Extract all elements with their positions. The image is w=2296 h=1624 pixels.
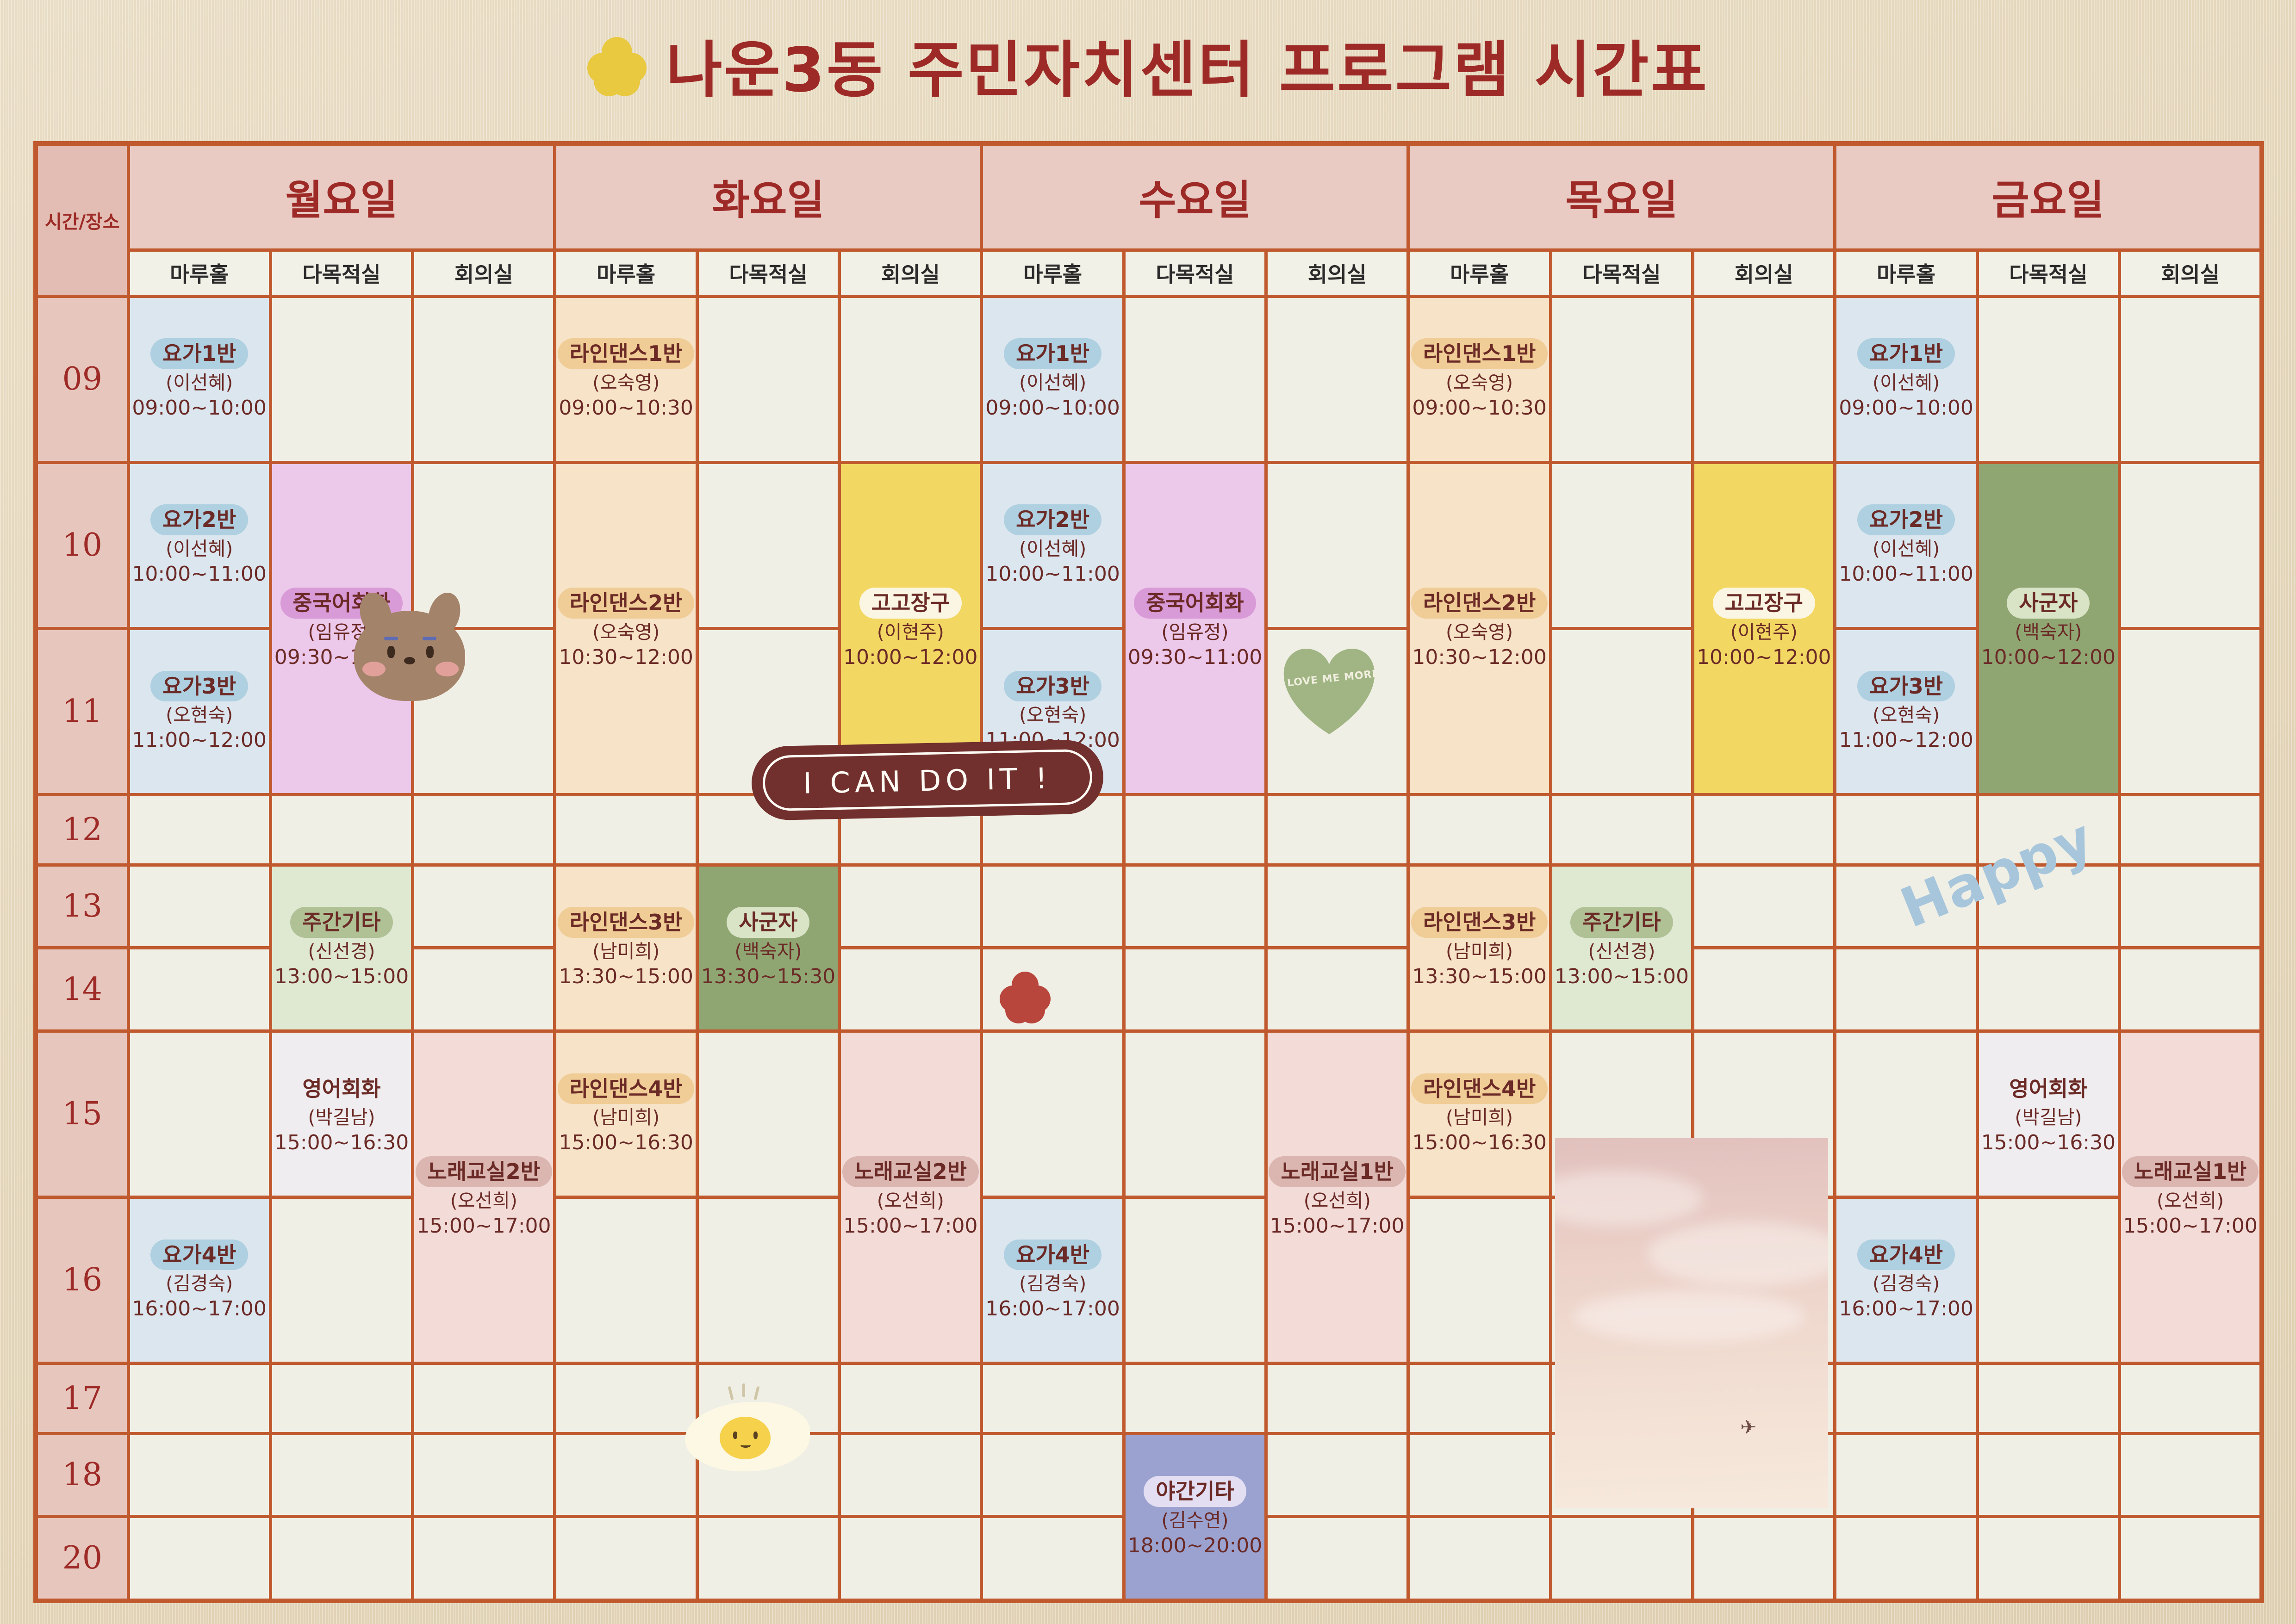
room-header-wed-meet: 회의실 [1266, 250, 1408, 296]
class-time: 15:00~17:00 [417, 1215, 551, 1238]
time-label-17: 17 [36, 1363, 128, 1433]
class-teacher: (이현주) [877, 621, 944, 643]
cell-fri-meet-09[interactable] [2120, 296, 2262, 462]
class-teacher: (오숙영) [1446, 621, 1513, 643]
schedule-table: 시간/장소 월요일 화요일 수요일 목요일 금요일 마루홀 다목적실 회의실 마… [33, 141, 2264, 1603]
class-block-yoga4-mon: 요가4반 (김경숙) 16:00~17:00 [130, 1199, 269, 1362]
cell-wed-meet-13[interactable] [1266, 865, 1408, 948]
cell-tue-meet-12[interactable] [840, 794, 982, 865]
class-time: 11:00~12:00 [985, 729, 1120, 752]
room-header-mon-multi: 다목적실 [270, 250, 412, 296]
cell-tue-meet-14[interactable] [840, 948, 982, 1031]
cell-fri-maru-12[interactable] [1835, 794, 1977, 865]
cell-mon-multi-17[interactable] [270, 1363, 412, 1433]
cell-mon-meet-17[interactable] [413, 1363, 555, 1433]
class-block-yoga2-fri: 요가2반 (이선혜) 10:00~11:00 [1836, 464, 1975, 627]
class-teacher: (신선경) [1588, 941, 1655, 962]
day-header-row: 시간/장소 월요일 화요일 수요일 목요일 금요일 [36, 143, 2262, 250]
cell-mon-maru-13[interactable] [128, 865, 270, 948]
cell-thu-meet-17[interactable] [1693, 1363, 1835, 1433]
class-time: 18:00~20:00 [1128, 1534, 1262, 1558]
cell-mon-meet-11[interactable] [413, 628, 555, 794]
class-time: 13:30~15:30 [701, 965, 835, 989]
class-teacher: (오선희) [1304, 1190, 1371, 1212]
class-time: 11:00~12:00 [132, 729, 266, 752]
cell-wed-maru-13[interactable] [982, 865, 1124, 948]
cell-thu-multi-16[interactable] [1550, 1197, 1692, 1363]
class-teacher: (오선희) [450, 1190, 517, 1212]
cell-mon-maru-09[interactable]: 요가1반 (이선혜) 09:00~10:00 [128, 296, 270, 462]
time-row-17: 17 [36, 1363, 2262, 1433]
cell-fri-meet-10[interactable] [2120, 462, 2262, 628]
class-time: 13:00~15:00 [274, 965, 409, 989]
class-name: 라인댄스3반 [1411, 907, 1548, 938]
class-block-chinese-wed: 중국어회화 (임유정) 09:30~11:00 [1126, 464, 1264, 793]
cell-wed-meet-15[interactable]: 노래교실1반 (오선희) 15:00~17:00 [1266, 1031, 1408, 1363]
room-header-mon-meet: 회의실 [413, 250, 555, 296]
cell-mon-meet-13[interactable] [413, 865, 555, 948]
cell-mon-multi-15[interactable]: 영어회화 (박길남) 15:00~16:30 [270, 1031, 412, 1197]
day-header-thursday: 목요일 [1408, 143, 1835, 250]
class-time: 16:00~17:00 [132, 1297, 266, 1321]
class-time: 09:00~10:00 [132, 397, 266, 420]
class-block-song2-tue: 노래교실2반 (오선희) 15:00~17:00 [841, 1033, 980, 1362]
cell-fri-maru-14[interactable] [1835, 948, 1977, 1031]
class-block-yoga3-mon: 요가3반 (오현숙) 11:00~12:00 [130, 630, 269, 793]
class-name: 라인댄스1반 [1411, 338, 1548, 369]
class-name: 사군자 [2007, 588, 2090, 619]
cell-tue-multi-13[interactable]: 사군자 (백숙자) 13:30~15:30 [697, 865, 839, 1031]
cell-tue-meet-17[interactable] [840, 1363, 982, 1433]
cell-fri-multi-18[interactable] [1977, 1433, 2119, 1516]
cell-tue-maru-09[interactable]: 라인댄스1반 (오숙영) 09:00~10:30 [555, 296, 697, 462]
cell-wed-multi-16[interactable] [1124, 1197, 1266, 1363]
cell-thu-multi-20[interactable] [1550, 1516, 1692, 1601]
class-teacher: (오숙영) [1446, 372, 1513, 394]
cell-thu-multi-13[interactable]: 주간기타 (신선경) 13:00~15:00 [1550, 865, 1692, 1031]
time-row-09: 09 요가1반 (이선혜) 09:00~10:00 라인댄스1반 (오숙영) 0… [36, 296, 2262, 462]
cell-tue-maru-12[interactable] [555, 794, 697, 865]
cell-tue-meet-10[interactable]: 고고장구 (이현주) 10:00~12:00 [840, 462, 982, 794]
cell-mon-meet-10[interactable] [413, 462, 555, 628]
cell-thu-maru-15[interactable]: 라인댄스4반 (남미희) 15:00~16:30 [1408, 1031, 1550, 1197]
cell-fri-multi-20[interactable] [1977, 1516, 2119, 1601]
cell-tue-maru-10[interactable]: 라인댄스2반 (오숙영) 10:30~12:00 [555, 462, 697, 794]
class-teacher: (김경숙) [1873, 1273, 1940, 1295]
class-time: 10:00~12:00 [843, 646, 977, 669]
class-name: 야간기타 [1144, 1476, 1246, 1507]
class-time: 11:00~12:00 [1839, 729, 1973, 752]
cell-fri-meet-18[interactable] [2120, 1433, 2262, 1516]
cell-fri-meet-11[interactable] [2120, 628, 2262, 794]
cell-mon-multi-13[interactable]: 주간기타 (신선경) 13:00~15:00 [270, 865, 412, 1031]
cell-thu-meet-09[interactable] [1693, 296, 1835, 462]
cell-thu-meet-14[interactable] [1693, 948, 1835, 1031]
cell-fri-meet-13[interactable] [2120, 865, 2262, 948]
class-time: 10:30~12:00 [1412, 646, 1546, 669]
cell-fri-meet-15[interactable]: 노래교실1반 (오선희) 15:00~17:00 [2120, 1031, 2262, 1363]
cell-thu-maru-10[interactable]: 라인댄스2반 (오숙영) 10:30~12:00 [1408, 462, 1550, 794]
class-teacher: (이선혜) [1019, 538, 1086, 560]
cell-wed-meet-09[interactable] [1266, 296, 1408, 462]
class-teacher: (이선혜) [1873, 538, 1940, 560]
class-block-gogo-tue: 고고장구 (이현주) 10:00~12:00 [841, 464, 980, 793]
time-row-16: 16 요가4반 (김경숙) 16:00~17:00 요가4반 (김경숙) 16:… [36, 1197, 2262, 1363]
class-block-line4-thu: 라인댄스4반 (남미희) 15:00~16:30 [1410, 1033, 1549, 1196]
cell-fri-multi-13[interactable] [1977, 865, 2119, 948]
time-label-20: 20 [36, 1516, 128, 1601]
cell-wed-maru-20[interactable] [982, 1516, 1124, 1601]
class-teacher: (오숙영) [592, 372, 660, 394]
cell-thu-meet-16[interactable] [1693, 1197, 1835, 1363]
cell-wed-multi-17[interactable] [1124, 1363, 1266, 1433]
page-title-bar: 나운3동 주민자치센터 프로그램 시간표 [0, 19, 2296, 111]
cell-fri-meet-12[interactable] [2120, 794, 2262, 865]
cell-thu-meet-18[interactable] [1693, 1433, 1835, 1516]
cell-fri-maru-09[interactable]: 요가1반 (이선혜) 09:00~10:00 [1835, 296, 1977, 462]
class-block-sagunja-tue: 사군자 (백숙자) 13:30~15:30 [699, 867, 838, 1029]
cell-wed-multi-09[interactable] [1124, 296, 1266, 462]
time-row-12: 12 [36, 794, 2262, 865]
class-time: 15:00~17:00 [843, 1215, 977, 1238]
class-block-english-mon: 영어회화 (박길남) 15:00~16:30 [272, 1033, 411, 1196]
cell-fri-meet-17[interactable] [2120, 1363, 2262, 1433]
cell-wed-multi-14[interactable] [1124, 948, 1266, 1031]
cell-tue-meet-20[interactable] [840, 1516, 982, 1601]
cell-mon-maru-15[interactable] [128, 1031, 270, 1197]
cell-fri-multi-10[interactable]: 사군자 (백숙자) 10:00~12:00 [1977, 462, 2119, 794]
class-time: 10:00~12:00 [1697, 646, 1831, 669]
room-header-wed-maru: 마루홀 [982, 250, 1124, 296]
cell-thu-maru-13[interactable]: 라인댄스3반 (남미희) 13:30~15:00 [1408, 865, 1550, 1031]
time-row-18: 18 야간기타 (김수연) 18:00~20:00 [36, 1433, 2262, 1516]
cell-mon-meet-15[interactable]: 노래교실2반 (오선희) 15:00~17:00 [413, 1031, 555, 1363]
class-block-english-fri: 영어회화 (박길남) 15:00~16:30 [1979, 1033, 2118, 1196]
cell-wed-meet-20[interactable] [1266, 1516, 1408, 1601]
class-time: 09:00~10:30 [559, 397, 693, 420]
class-teacher: (남미희) [592, 1107, 660, 1128]
class-name: 주간기타 [1570, 907, 1673, 938]
class-time: 09:00~10:00 [1839, 397, 1973, 420]
cell-thu-multi-09[interactable] [1550, 296, 1692, 462]
class-block-night-wed: 야간기타 (김수연) 18:00~20:00 [1126, 1435, 1264, 1599]
cell-mon-meet-12[interactable] [413, 794, 555, 865]
cell-wed-meet-17[interactable] [1266, 1363, 1408, 1433]
day-header-monday: 월요일 [128, 143, 555, 250]
cell-tue-multi-17[interactable] [697, 1363, 839, 1433]
cell-mon-maru-10[interactable]: 요가2반 (이선혜) 10:00~11:00 [128, 462, 270, 628]
cell-mon-multi-20[interactable] [270, 1516, 412, 1601]
cell-thu-meet-20[interactable] [1693, 1516, 1835, 1601]
cell-thu-maru-09[interactable]: 라인댄스1반 (오숙영) 09:00~10:30 [1408, 296, 1550, 462]
cell-thu-maru-12[interactable] [1408, 794, 1550, 865]
cell-tue-multi-18[interactable] [697, 1433, 839, 1516]
class-name: 요가4반 [1004, 1240, 1101, 1271]
cell-tue-maru-17[interactable] [555, 1363, 697, 1433]
class-block-yoga4-wed: 요가4반 (김경숙) 16:00~17:00 [983, 1199, 1122, 1362]
cell-wed-multi-18[interactable]: 야간기타 (김수연) 18:00~20:00 [1124, 1433, 1266, 1601]
cell-tue-multi-20[interactable] [697, 1516, 839, 1601]
class-block-line2-tue: 라인댄스2반 (오숙영) 10:30~12:00 [556, 464, 695, 793]
cell-mon-multi-18[interactable] [270, 1433, 412, 1516]
class-block-line1-thu: 라인댄스1반 (오숙영) 09:00~10:30 [1410, 298, 1549, 461]
class-teacher: (김경숙) [1019, 1273, 1086, 1295]
cell-fri-maru-17[interactable] [1835, 1363, 1977, 1433]
class-teacher: (박길남) [2015, 1107, 2082, 1128]
class-teacher: (이선혜) [1873, 372, 1940, 394]
time-label-15: 15 [36, 1031, 128, 1197]
class-name: 주간기타 [290, 907, 392, 938]
cell-thu-maru-20[interactable] [1408, 1516, 1550, 1601]
class-name: 고고장구 [1713, 588, 1815, 619]
cell-fri-multi-09[interactable] [1977, 296, 2119, 462]
class-name: 중국어회화 [1134, 588, 1256, 619]
class-name: 요가1반 [1857, 338, 1955, 369]
cell-fri-multi-14[interactable] [1977, 948, 2119, 1031]
cell-fri-multi-15[interactable]: 영어회화 (박길남) 15:00~16:30 [1977, 1031, 2119, 1197]
cell-tue-maru-13[interactable]: 라인댄스3반 (남미희) 13:30~15:00 [555, 865, 697, 1031]
cell-thu-multi-17[interactable] [1550, 1363, 1692, 1433]
cell-mon-maru-17[interactable] [128, 1363, 270, 1433]
cell-thu-meet-12[interactable] [1693, 794, 1835, 865]
class-teacher: (오현숙) [166, 704, 233, 726]
cell-thu-maru-17[interactable] [1408, 1363, 1550, 1433]
cell-thu-maru-16[interactable] [1408, 1197, 1550, 1363]
cell-wed-meet-18[interactable] [1266, 1433, 1408, 1516]
cell-tue-maru-16[interactable] [555, 1197, 697, 1363]
class-time: 13:30~15:00 [1412, 965, 1546, 989]
cell-tue-maru-20[interactable] [555, 1516, 697, 1601]
cell-fri-meet-14[interactable] [2120, 948, 2262, 1031]
class-time: 10:00~11:00 [1839, 563, 1973, 586]
class-name: 노래교실1반 [2122, 1156, 2259, 1187]
cell-tue-meet-13[interactable] [840, 865, 982, 948]
cell-wed-meet-12[interactable] [1266, 794, 1408, 865]
cell-wed-multi-15[interactable] [1124, 1031, 1266, 1197]
class-teacher: (이선혜) [1019, 372, 1086, 394]
cell-fri-maru-20[interactable] [1835, 1516, 1977, 1601]
cell-mon-multi-10[interactable]: 중국어회화 (임유정) 09:30~11:00 [270, 462, 412, 794]
cell-tue-meet-15[interactable]: 노래교실2반 (오선희) 15:00~17:00 [840, 1031, 982, 1363]
class-teacher: (오선희) [877, 1190, 944, 1212]
cell-mon-meet-20[interactable] [413, 1516, 555, 1601]
class-teacher: (백숙자) [2015, 621, 2082, 643]
cell-wed-multi-10[interactable]: 중국어회화 (임유정) 09:30~11:00 [1124, 462, 1266, 794]
cell-thu-multi-12[interactable] [1550, 794, 1692, 865]
cell-wed-meet-10[interactable] [1266, 462, 1408, 628]
cell-fri-meet-20[interactable] [2120, 1516, 2262, 1601]
cell-tue-multi-15[interactable] [697, 1031, 839, 1197]
room-header-fri-multi: 다목적실 [1977, 250, 2119, 296]
cell-tue-multi-10[interactable] [697, 462, 839, 628]
class-name: 요가4반 [1857, 1240, 1955, 1271]
class-teacher: (백숙자) [734, 941, 802, 962]
cell-fri-maru-18[interactable] [1835, 1433, 1977, 1516]
class-teacher: (오현숙) [1873, 704, 1940, 726]
corner-label: 시간/장소 [36, 143, 128, 296]
time-label-10: 10 [36, 462, 128, 628]
class-name: 요가2반 [1004, 504, 1101, 535]
class-name: 라인댄스2반 [1411, 588, 1548, 619]
cell-mon-multi-16[interactable] [270, 1197, 412, 1363]
class-teacher: (임유정) [1161, 621, 1228, 643]
class-block-song2-mon: 노래교실2반 (오선희) 15:00~17:00 [414, 1033, 553, 1362]
time-label-13: 13 [36, 865, 128, 948]
cell-thu-meet-15[interactable] [1693, 1031, 1835, 1197]
cell-tue-multi-11[interactable] [697, 628, 839, 794]
class-teacher: (이선혜) [166, 372, 233, 394]
cell-thu-meet-13[interactable] [1693, 865, 1835, 948]
time-label-12: 12 [36, 794, 128, 865]
cell-mon-meet-09[interactable] [413, 296, 555, 462]
class-block-line3-tue: 라인댄스3반 (남미희) 13:30~15:00 [556, 867, 695, 1029]
cell-wed-maru-16[interactable]: 요가4반 (김경숙) 16:00~17:00 [982, 1197, 1124, 1363]
time-label-11: 11 [36, 628, 128, 794]
room-header-thu-multi: 다목적실 [1550, 250, 1692, 296]
cell-mon-meet-14[interactable] [413, 948, 555, 1031]
class-block-yoga1-wed: 요가1반 (이선혜) 09:00~10:00 [983, 298, 1122, 461]
cell-wed-meet-11[interactable] [1266, 628, 1408, 794]
class-name: 요가3반 [1857, 671, 1955, 702]
class-time: 09:30~11:00 [274, 646, 409, 669]
room-header-tue-maru: 마루홀 [555, 250, 697, 296]
cell-fri-maru-11[interactable]: 요가3반 (오현숙) 11:00~12:00 [1835, 628, 1977, 794]
cell-tue-multi-09[interactable] [697, 296, 839, 462]
cell-mon-maru-11[interactable]: 요가3반 (오현숙) 11:00~12:00 [128, 628, 270, 794]
cell-fri-maru-10[interactable]: 요가2반 (이선혜) 10:00~11:00 [1835, 462, 1977, 628]
cell-mon-meet-18[interactable] [413, 1433, 555, 1516]
cell-mon-multi-12[interactable] [270, 794, 412, 865]
class-time: 15:00~16:30 [1981, 1131, 2116, 1155]
class-time: 10:00~11:00 [132, 563, 266, 586]
class-time: 13:30~15:00 [559, 965, 693, 989]
cell-thu-multi-11[interactable] [1550, 628, 1692, 794]
cell-tue-maru-18[interactable] [555, 1433, 697, 1516]
cell-fri-multi-17[interactable] [1977, 1363, 2119, 1433]
cell-thu-multi-15[interactable] [1550, 1031, 1692, 1197]
cell-thu-multi-10[interactable] [1550, 462, 1692, 628]
cell-wed-maru-12[interactable] [982, 794, 1124, 865]
class-time: 09:30~11:00 [1128, 646, 1262, 669]
class-time: 13:00~15:00 [1555, 965, 1689, 989]
class-teacher: (오선희) [2157, 1190, 2224, 1212]
class-block-line2-thu: 라인댄스2반 (오숙영) 10:30~12:00 [1410, 464, 1549, 793]
class-name: 노래교실2반 [416, 1156, 553, 1187]
class-block-guitar-mon: 주간기타 (신선경) 13:00~15:00 [272, 867, 411, 1029]
cell-wed-maru-14[interactable] [982, 948, 1124, 1031]
cell-wed-maru-11[interactable]: 요가3반 (오현숙) 11:00~12:00 [982, 628, 1124, 794]
cell-fri-multi-12[interactable] [1977, 794, 2119, 865]
class-time: 10:00~11:00 [985, 563, 1120, 586]
cell-thu-meet-10[interactable]: 고고장구 (이현주) 10:00~12:00 [1693, 462, 1835, 794]
cell-wed-maru-17[interactable] [982, 1363, 1124, 1433]
cell-wed-meet-14[interactable] [1266, 948, 1408, 1031]
class-name: 라인댄스4반 [1411, 1073, 1548, 1104]
cell-tue-multi-12[interactable] [697, 794, 839, 865]
class-name: 요가3반 [150, 671, 248, 702]
class-time: 15:00~16:30 [559, 1131, 693, 1155]
class-name: 노래교실2반 [842, 1156, 979, 1187]
class-teacher: (김수연) [1161, 1510, 1228, 1531]
cell-thu-multi-18[interactable] [1550, 1433, 1692, 1516]
cell-tue-meet-18[interactable] [840, 1433, 982, 1516]
cell-mon-maru-14[interactable] [128, 948, 270, 1031]
page-title: 나운3동 주민자치센터 프로그램 시간표 [666, 21, 1709, 109]
class-block-gogo-thu: 고고장구 (이현주) 10:00~12:00 [1694, 464, 1833, 793]
cell-wed-multi-12[interactable] [1124, 794, 1266, 865]
class-block-chinese-mon: 중국어회화 (임유정) 09:30~11:00 [272, 464, 411, 793]
class-block-yoga3-fri: 요가3반 (오현숙) 11:00~12:00 [1836, 630, 1975, 793]
cell-wed-maru-18[interactable] [982, 1433, 1124, 1516]
class-block-song1-fri: 노래교실1반 (오선희) 15:00~17:00 [2121, 1033, 2259, 1362]
time-row-15: 15 영어회화 (박길남) 15:00~16:30 노래교실2반 (오선희) 1… [36, 1031, 2262, 1197]
cell-mon-maru-18[interactable] [128, 1433, 270, 1516]
class-name: 영어회화 [290, 1073, 392, 1104]
room-header-mon-maru: 마루홀 [128, 250, 270, 296]
class-block-song1-wed: 노래교실1반 (오선희) 15:00~17:00 [1268, 1033, 1406, 1362]
class-teacher: (남미희) [1446, 1107, 1513, 1128]
class-name: 라인댄스4반 [558, 1073, 695, 1104]
class-name: 노래교실1반 [1269, 1156, 1406, 1187]
cell-fri-maru-15[interactable] [1835, 1031, 1977, 1197]
class-name: 고고장구 [859, 588, 962, 619]
class-teacher: (오숙영) [592, 621, 660, 643]
room-header-thu-meet: 회의실 [1693, 250, 1835, 296]
class-time: 15:00~16:30 [274, 1131, 409, 1155]
cell-tue-meet-09[interactable] [840, 296, 982, 462]
class-block-line4-tue: 라인댄스4반 (남미희) 15:00~16:30 [556, 1033, 695, 1196]
class-name: 라인댄스3반 [558, 907, 695, 938]
class-time: 09:00~10:30 [1412, 397, 1546, 420]
class-teacher: (임유정) [308, 621, 375, 643]
room-header-tue-multi: 다목적실 [697, 250, 839, 296]
cell-mon-multi-09[interactable] [270, 296, 412, 462]
cell-fri-multi-16[interactable] [1977, 1197, 2119, 1363]
time-row-10: 10 요가2반 (이선혜) 10:00~11:00 중국어회화 (임유정) 09… [36, 462, 2262, 628]
class-name: 요가1반 [1004, 338, 1101, 369]
room-header-wed-multi: 다목적실 [1124, 250, 1266, 296]
room-header-tue-meet: 회의실 [840, 250, 982, 296]
class-name: 중국어회화 [280, 588, 403, 619]
class-time: 15:00~17:00 [1270, 1215, 1404, 1238]
cell-wed-maru-10[interactable]: 요가2반 (이선혜) 10:00~11:00 [982, 462, 1124, 628]
cell-mon-maru-20[interactable] [128, 1516, 270, 1601]
class-block-yoga4-fri: 요가4반 (김경숙) 16:00~17:00 [1836, 1199, 1975, 1362]
room-header-row: 마루홀 다목적실 회의실 마루홀 다목적실 회의실 마루홀 다목적실 회의실 마… [36, 250, 2262, 296]
cell-wed-multi-13[interactable] [1124, 865, 1266, 948]
class-teacher: (남미희) [1446, 941, 1513, 962]
class-time: 10:00~12:00 [1981, 646, 2116, 669]
cell-fri-maru-16[interactable]: 요가4반 (김경숙) 16:00~17:00 [1835, 1197, 1977, 1363]
cell-fri-maru-13[interactable] [1835, 865, 1977, 948]
cell-wed-maru-15[interactable] [982, 1031, 1124, 1197]
cell-mon-maru-12[interactable] [128, 794, 270, 865]
class-teacher: (이선혜) [166, 538, 233, 560]
cell-tue-multi-16[interactable] [697, 1197, 839, 1363]
flower-icon [587, 37, 647, 96]
class-block-yoga2-wed: 요가2반 (이선혜) 10:00~11:00 [983, 464, 1122, 627]
cell-mon-maru-16[interactable]: 요가4반 (김경숙) 16:00~17:00 [128, 1197, 270, 1363]
class-name: 사군자 [727, 907, 809, 938]
cell-thu-maru-18[interactable] [1408, 1433, 1550, 1516]
time-label-16: 16 [36, 1197, 128, 1363]
cell-tue-maru-15[interactable]: 라인댄스4반 (남미희) 15:00~16:30 [555, 1031, 697, 1197]
room-header-fri-meet: 회의실 [2120, 250, 2262, 296]
cell-wed-maru-09[interactable]: 요가1반 (이선혜) 09:00~10:00 [982, 296, 1124, 462]
class-block-yoga2-mon: 요가2반 (이선혜) 10:00~11:00 [130, 464, 269, 627]
class-name: 라인댄스1반 [558, 338, 695, 369]
day-header-friday: 금요일 [1835, 143, 2262, 250]
